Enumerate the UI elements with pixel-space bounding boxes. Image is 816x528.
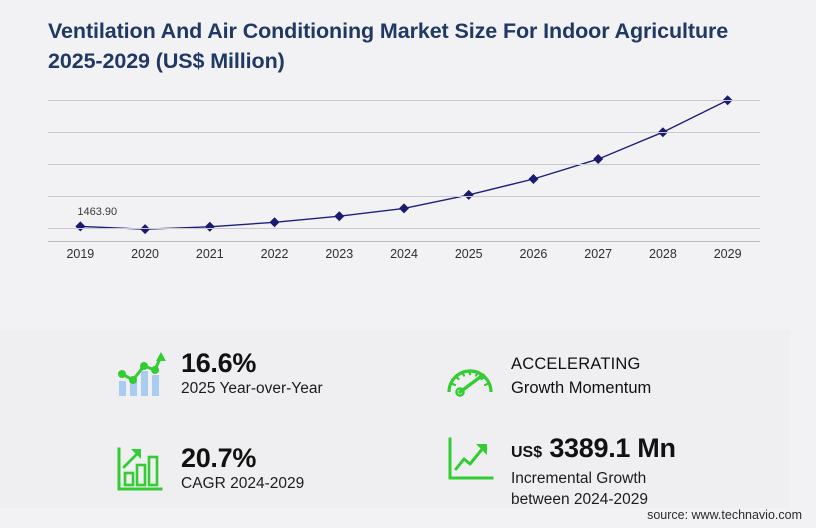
chart-data-point <box>334 211 344 221</box>
chart-x-tick: 2028 <box>649 247 677 261</box>
chart-gridline <box>48 228 760 229</box>
chart-x-tick: 2020 <box>131 247 159 261</box>
chart-axis-line <box>48 241 760 242</box>
chart-data-point <box>205 222 215 232</box>
card-cagr: 20.7% CAGR 2024-2029 <box>113 443 304 495</box>
chart-gridline <box>48 164 760 165</box>
line-chart-arrow-icon <box>443 433 497 485</box>
bar-chart-arrow-icon <box>113 443 167 495</box>
momentum-caption: Growth Momentum <box>511 376 651 400</box>
chart-gridline <box>48 196 760 197</box>
chart-data-point <box>464 190 474 200</box>
chart-data-point <box>593 154 603 164</box>
chart-x-tick: 2023 <box>325 247 353 261</box>
chart-data-point <box>75 221 85 231</box>
chart-plot-area: 1463.90 <box>48 95 760 240</box>
chart-series-path <box>48 95 760 240</box>
page-title: Ventilation And Air Conditioning Market … <box>48 16 748 76</box>
chart-x-tick: 2024 <box>390 247 418 261</box>
chart-x-tick: 2026 <box>520 247 548 261</box>
chart-x-tick: 2021 <box>196 247 224 261</box>
chart-x-tick: 2019 <box>66 247 94 261</box>
chart-data-point <box>270 217 280 227</box>
chart-point-label: 1463.90 <box>77 206 117 218</box>
card-incremental-growth: US$ 3389.1 Mn Incremental Growth between… <box>443 433 676 510</box>
chart-x-tick: 2029 <box>714 247 742 261</box>
momentum-title: ACCELERATING <box>511 352 651 376</box>
source-label: source: www.technavio.com <box>647 508 802 522</box>
incremental-amount: 3389.1 Mn <box>549 433 675 463</box>
line-chart: 1463.90 20192020202120222023202420252026… <box>0 95 816 280</box>
chart-gridline <box>48 132 760 133</box>
card-growth-momentum: ACCELERATING Growth Momentum <box>443 352 651 404</box>
yoy-caption: 2025 Year-over-Year <box>181 378 323 399</box>
chart-x-tick: 2025 <box>455 247 483 261</box>
chart-data-point <box>399 203 409 213</box>
infographic-root: Ventilation And Air Conditioning Market … <box>0 0 816 528</box>
incremental-caption-line2: between 2024-2029 <box>511 489 676 510</box>
chart-x-axis: 2019202020212022202320242025202620272028… <box>48 247 760 271</box>
chart-x-tick: 2022 <box>261 247 289 261</box>
chart-x-tick: 2027 <box>584 247 612 261</box>
cagr-value: 20.7% <box>181 443 304 473</box>
chart-gridline <box>48 100 760 101</box>
yoy-value: 16.6% <box>181 348 323 378</box>
speedometer-icon <box>443 352 497 404</box>
card-year-over-year: 16.6% 2025 Year-over-Year <box>113 348 323 400</box>
incremental-value: US$ 3389.1 Mn <box>511 433 676 468</box>
stats-cards: 16.6% 2025 Year-over-Year <box>0 330 816 520</box>
incremental-unit: US$ <box>511 444 542 461</box>
chart-data-point <box>528 174 538 184</box>
cagr-caption: CAGR 2024-2029 <box>181 473 304 494</box>
bar-chart-trend-icon <box>113 348 167 400</box>
incremental-caption-line1: Incremental Growth <box>511 468 676 489</box>
